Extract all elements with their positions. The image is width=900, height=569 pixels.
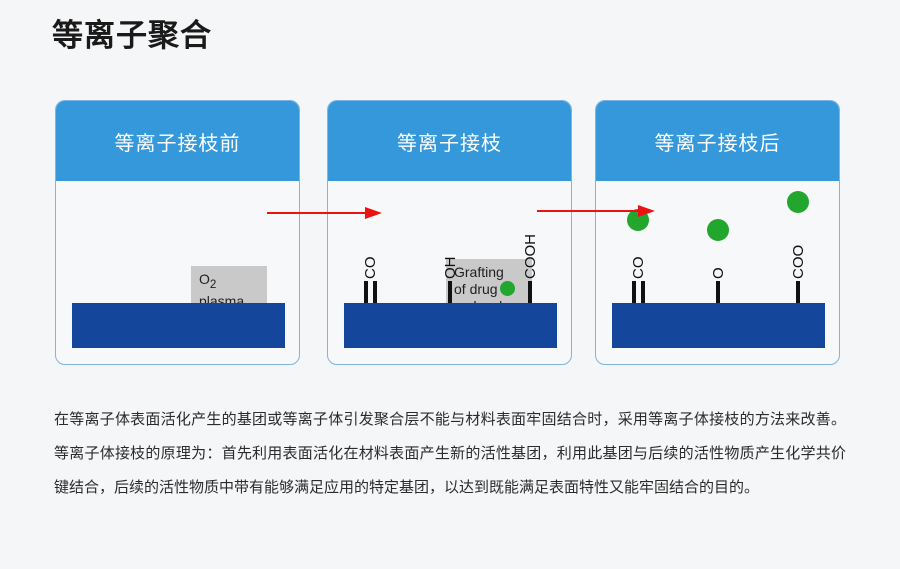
functional-group-stems: [350, 281, 390, 303]
molecule-dot-icon: [787, 191, 809, 213]
panel-after-grafting: 等离子接枝后 CO O COO: [595, 100, 840, 365]
panel-header-grafting: 等离子接枝: [328, 101, 571, 181]
functional-group: OH: [430, 281, 470, 303]
stem: [373, 281, 377, 303]
stem: [632, 281, 636, 303]
functional-group: COOH: [510, 281, 550, 303]
arrow-shaft: [537, 210, 639, 212]
functional-group: O: [698, 281, 738, 303]
callout-o2-line1: O: [199, 271, 210, 287]
stem: [641, 281, 645, 303]
arrow-head: [638, 205, 655, 217]
functional-group: CO: [618, 281, 658, 303]
stem: [716, 281, 720, 303]
process-arrow-icon: [537, 205, 655, 217]
functional-group-stems: [778, 281, 818, 303]
page-title: 等离子聚合: [52, 14, 212, 58]
panel-grafting: 等离子接枝 Grafting of drug molecules CO OH: [327, 100, 572, 365]
stem: [364, 281, 368, 303]
panel-before-grafting: 等离子接枝前 O2 plasma: [55, 100, 300, 365]
functional-group-stems: [510, 281, 550, 303]
functional-group: CO: [350, 281, 390, 303]
callout-graft-line1: Grafting: [454, 264, 504, 280]
process-arrow-icon: [267, 207, 382, 219]
panel-body-before-grafting: O2 plasma: [56, 181, 299, 365]
functional-group-stems: [698, 281, 738, 303]
stem: [448, 281, 452, 303]
arrow-head: [365, 207, 382, 219]
panel-header-before-grafting: 等离子接枝前: [56, 101, 299, 181]
substrate-bar-before: [72, 303, 285, 348]
functional-group-stems: [430, 281, 470, 303]
description-paragraph: 在等离子体表面活化产生的基团或等离子体引发聚合层不能与材料表面牢固结合时，采用等…: [54, 403, 846, 505]
callout-o2-subscript: 2: [210, 278, 216, 291]
process-diagram: 等离子接枝前 O2 plasma 等离子接枝 Grafting of drug …: [55, 100, 845, 365]
panel-header-after-grafting: 等离子接枝后: [596, 101, 839, 181]
stem: [796, 281, 800, 303]
substrate-bar-after: [612, 303, 825, 348]
molecule-dot-icon: [707, 219, 729, 241]
functional-group-stems: [618, 281, 658, 303]
stem: [528, 281, 532, 303]
substrate-bar-grafting: [344, 303, 557, 348]
functional-group: COO: [778, 281, 818, 303]
arrow-shaft: [267, 212, 366, 214]
